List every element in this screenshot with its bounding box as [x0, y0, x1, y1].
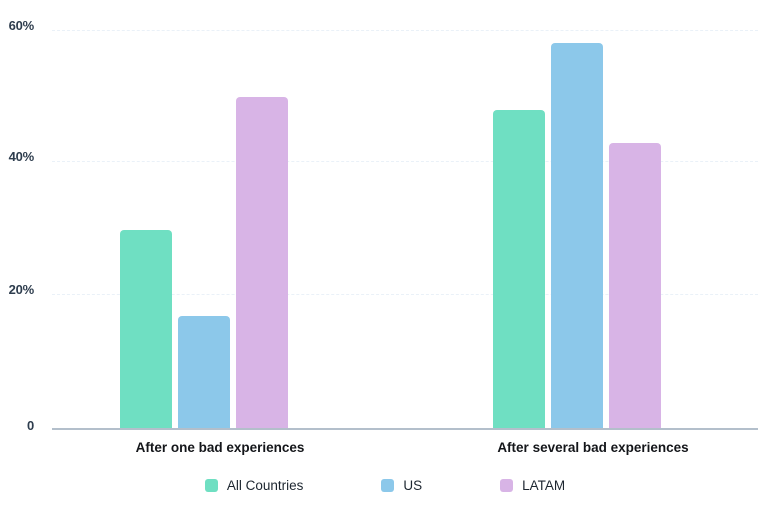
chart-legend: All Countries US LATAM: [0, 478, 770, 493]
legend-swatch-icon-latam: [500, 479, 513, 492]
x-axis-baseline: [52, 428, 758, 430]
y-axis-tick-0: 0: [0, 418, 34, 433]
bar-us-group1[interactable]: [178, 316, 230, 429]
bar-us-group2[interactable]: [551, 43, 603, 429]
bar-latam-group2[interactable]: [609, 143, 661, 429]
legend-swatch-icon-all-countries: [205, 479, 218, 492]
bar-group-after-several-bad-experiences: [493, 43, 661, 429]
bar-latam-group1[interactable]: [236, 97, 288, 430]
bar-chart: 60% 40% 20% 0 After one bad experiences …: [0, 0, 770, 510]
legend-item-latam[interactable]: LATAM: [500, 478, 565, 493]
legend-label-all-countries: All Countries: [227, 478, 304, 493]
y-axis-tick-40: 40%: [0, 149, 34, 164]
bar-group-after-one-bad-experiences: [120, 97, 288, 430]
legend-item-all-countries[interactable]: All Countries: [205, 478, 304, 493]
y-axis-tick-60: 60%: [0, 18, 34, 33]
y-axis-tick-20: 20%: [0, 282, 34, 297]
bar-all-countries-group1[interactable]: [120, 230, 172, 430]
legend-item-us[interactable]: US: [381, 478, 422, 493]
legend-label-us: US: [403, 478, 422, 493]
plot-area: [52, 18, 758, 429]
x-axis-category-label-1: After one bad experiences: [50, 440, 390, 455]
bar-all-countries-group2[interactable]: [493, 110, 545, 429]
x-axis-category-label-2: After several bad experiences: [423, 440, 763, 455]
legend-swatch-icon-us: [381, 479, 394, 492]
legend-label-latam: LATAM: [522, 478, 565, 493]
